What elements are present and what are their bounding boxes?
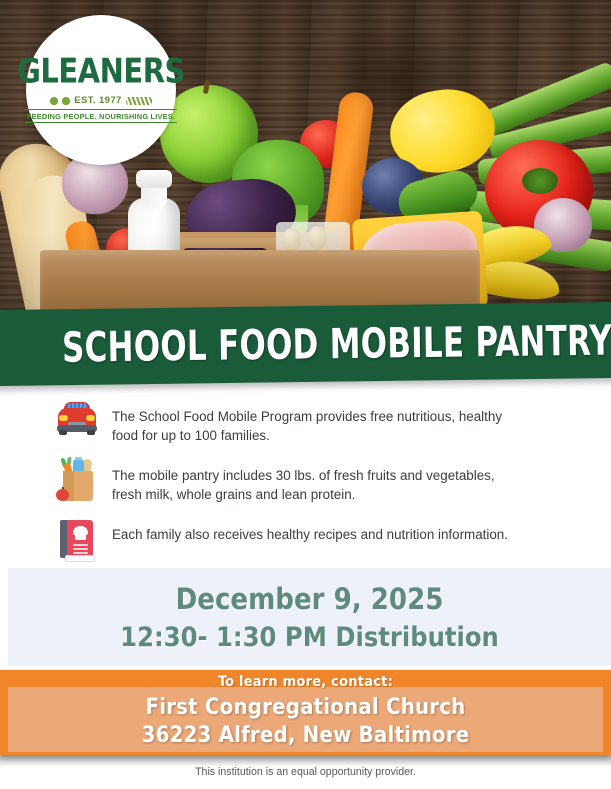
list-item: The mobile pantry includes 30 lbs. of fr… — [0, 457, 611, 504]
book-text-line — [73, 544, 88, 546]
list-item-text: The mobile pantry includes 30 lbs. of fr… — [112, 457, 512, 504]
apple-shape — [56, 489, 69, 501]
contact-organization: First Congregational Church — [0, 695, 611, 720]
milk-bottle-cap — [136, 170, 172, 188]
book-text-line — [73, 548, 88, 550]
car-headlight — [86, 415, 95, 421]
grocery-bag-icon — [56, 457, 98, 503]
program-details-list: The School Food Mobile Program provides … — [0, 398, 611, 574]
car-headlight — [59, 415, 68, 421]
logo-established-text: EST. 1977 — [74, 95, 121, 106]
chef-hat-band — [75, 534, 86, 540]
event-date: December 9, 2025 — [176, 582, 444, 616]
list-item: Each family also receives healthy recipe… — [0, 516, 611, 562]
car-wheel — [87, 430, 95, 435]
logo-tagline: FEEDING PEOPLE. NOURISHING LIVES. — [25, 109, 177, 123]
contact-section: To learn more, contact: First Congregati… — [0, 670, 611, 755]
vegetable-icon — [62, 97, 70, 105]
quail-egg — [308, 226, 327, 250]
book-text-line — [73, 552, 88, 554]
car-wheel — [59, 430, 67, 435]
title-banner: SCHOOL FOOD MOBILE PANTRY — [0, 302, 611, 386]
logo-wordmark: GLEANERS — [17, 54, 185, 88]
logo-established-row: EST. 1977 — [50, 95, 151, 106]
vegetable-icon — [50, 97, 58, 105]
quail-egg — [282, 228, 301, 252]
gleaners-logo: GLEANERS EST. 1977 FEEDING PEOPLE. NOURI… — [26, 15, 176, 165]
flyer: GLEANERS EST. 1977 FEEDING PEOPLE. NOURI… — [0, 0, 611, 789]
wheat-icon — [126, 97, 152, 105]
tomato-stem — [522, 168, 558, 194]
list-item: The School Food Mobile Program provides … — [0, 398, 611, 445]
footer-disclaimer: This institution is an equal opportunity… — [0, 766, 611, 778]
book-pages — [65, 555, 95, 562]
contact-address: 36223 Alfred, New Baltimore — [0, 723, 611, 748]
cookbook-icon — [56, 516, 98, 562]
car-icon — [56, 398, 98, 444]
contact-lead-text: To learn more, contact: — [0, 674, 611, 690]
list-item-text: Each family also receives healthy recipe… — [112, 516, 508, 544]
event-time: 12:30- 1:30 PM Distribution — [120, 622, 499, 653]
page-title: SCHOOL FOOD MOBILE PANTRY — [62, 316, 611, 371]
event-date-section: December 9, 2025 12:30- 1:30 PM Distribu… — [8, 568, 611, 666]
list-item-text: The School Food Mobile Program provides … — [112, 398, 512, 445]
